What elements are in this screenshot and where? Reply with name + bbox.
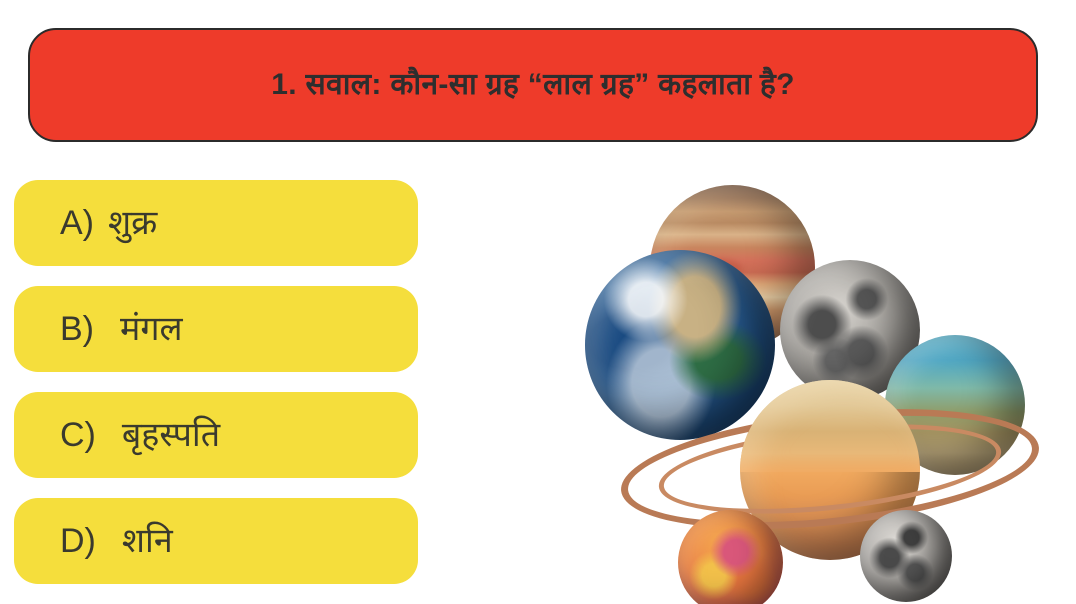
- option-b-label: मंगल: [120, 312, 183, 346]
- planets-illustration: [565, 175, 1035, 595]
- option-c-letter: C): [60, 418, 96, 452]
- option-a[interactable]: A) शुक्र: [14, 180, 418, 266]
- option-b-letter: B): [60, 312, 94, 346]
- question-text: 1. सवाल: कौन-सा ग्रह “लाल ग्रह” कहलाता ह…: [253, 66, 813, 104]
- option-a-label: शुक्र: [108, 206, 157, 240]
- earth-planet-icon: [585, 250, 775, 440]
- option-b[interactable]: B) मंगल: [14, 286, 418, 372]
- answer-options-list: A) शुक्र B) मंगल C) बृहस्पति D) शनि: [14, 180, 418, 584]
- io-moon-icon: [678, 510, 783, 604]
- option-d-letter: D): [60, 524, 96, 558]
- option-c[interactable]: C) बृहस्पति: [14, 392, 418, 478]
- quiz-slide: 1. सवाल: कौन-सा ग्रह “लाल ग्रह” कहलाता ह…: [0, 0, 1076, 604]
- option-d[interactable]: D) शनि: [14, 498, 418, 584]
- option-d-label: शनि: [122, 524, 173, 558]
- moon-small-icon: [860, 510, 952, 602]
- option-a-letter: A): [60, 206, 94, 240]
- option-c-label: बृहस्पति: [122, 418, 220, 452]
- question-banner: 1. सवाल: कौन-सा ग्रह “लाल ग्रह” कहलाता ह…: [28, 28, 1038, 142]
